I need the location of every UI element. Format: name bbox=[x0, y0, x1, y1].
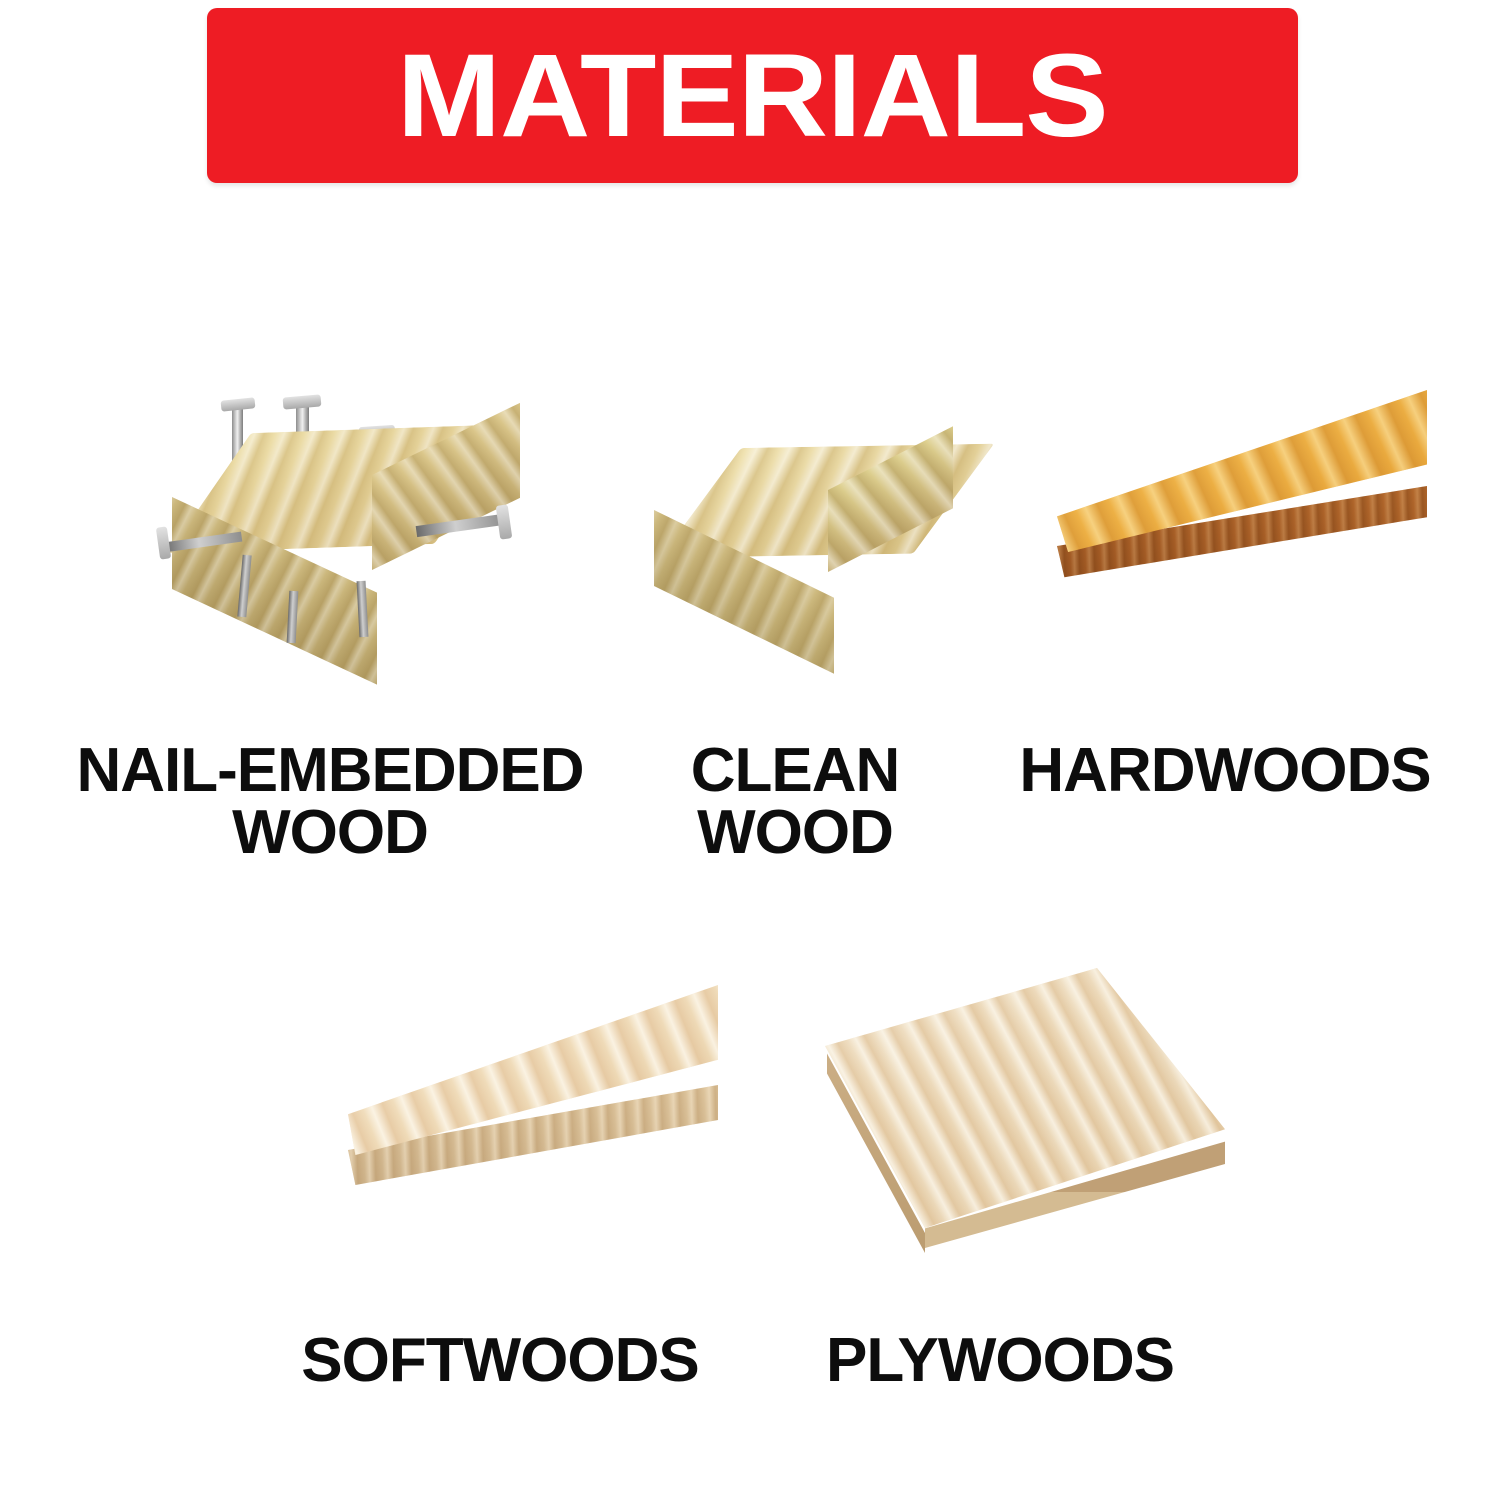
plywood-top-face bbox=[825, 968, 1225, 1228]
clean-wood-block-icon bbox=[640, 430, 970, 610]
hardwood-plank-icon bbox=[1035, 360, 1445, 630]
material-label-clean-wood: CLEAN WOOD bbox=[620, 740, 970, 864]
material-label-hardwoods: HARDWOODS bbox=[980, 740, 1470, 802]
plywood-sheet-icon bbox=[815, 960, 1235, 1290]
material-label-plywoods: PLYWOODS bbox=[770, 1330, 1230, 1392]
page-title: MATERIALS bbox=[397, 37, 1108, 155]
material-label-softwoods: SOFTWOODS bbox=[260, 1330, 740, 1392]
softwood-plank-icon bbox=[330, 975, 730, 1235]
material-label-nail-embedded-wood: NAIL-EMBEDDED WOOD bbox=[30, 740, 630, 864]
materials-header-banner: MATERIALS bbox=[207, 8, 1298, 183]
nail-embedded-wood-icon bbox=[150, 385, 540, 665]
